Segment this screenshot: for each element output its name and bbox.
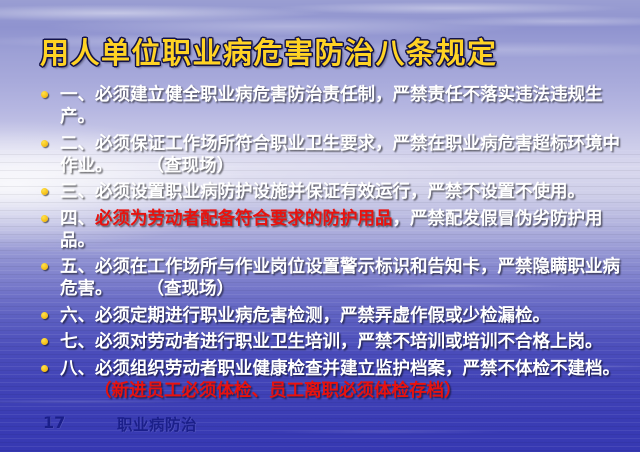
list-item-text: 三、必须设置职业病防护设施并保证有效运行，严禁不设置不使用。 <box>60 181 634 203</box>
plain-text: 二、必须保证工作场所符合职业卫生要求，严禁在职业病危害超标环境中作业。 <box>60 134 620 176</box>
plain-text: 三、必须设置职业病防护设施并保证有效运行，严禁不设置不使用。 <box>60 182 585 202</box>
plain-text: （查现场） <box>147 279 235 299</box>
list-item: 五、必须在工作场所与作业岗位设置警示标识和告知卡，严禁隐瞒职业病危害。（查现场） <box>36 256 634 300</box>
bullet-dot-icon <box>41 312 48 319</box>
list-item-text: 五、必须在工作场所与作业岗位设置警示标识和告知卡，严禁隐瞒职业病危害。（查现场） <box>60 256 634 300</box>
plain-text: 五、必须在工作场所与作业岗位设置警示标识和告知卡，严禁隐瞒职业病危害。 <box>60 257 620 299</box>
slide-title: 用人单位职业病危害防治八条规定 <box>40 30 498 72</box>
list-item-text: 四、必须为劳动者配备符合要求的防护用品，严禁配发假冒伪劣防护用品。 <box>60 208 634 252</box>
list-item: 八、必须组织劳动者职业健康检查并建立监护档案，严禁不体检不建档。（新进员工必须体… <box>36 358 634 402</box>
list-item-text: 一、必须建立健全职业病危害防治责任制，严禁责任不落实违法违规生产。 <box>60 84 634 128</box>
plain-text: 六、必须定期进行职业病危害检测，严禁弄虚作假或少检漏检。 <box>60 306 550 326</box>
bullet-dot-icon <box>41 338 48 345</box>
list-item-text: 二、必须保证工作场所符合职业卫生要求，严禁在职业病危害超标环境中作业。（查现场） <box>60 133 634 177</box>
bullet-dot-icon <box>41 365 48 372</box>
plain-text: 七、必须对劳动者进行职业卫生培训，严禁不培训或培训不合格上岗。 <box>60 332 603 352</box>
list-item-text: 七、必须对劳动者进行职业卫生培训，严禁不培训或培训不合格上岗。 <box>60 331 634 353</box>
bullet-dot-icon <box>41 140 48 147</box>
plain-text: 四、 <box>60 209 95 229</box>
footer-page-number: 17 <box>43 413 65 432</box>
bullet-dot-icon <box>41 215 48 222</box>
highlighted-text: （新进员工必须体检、员工离职必须体检存档） <box>94 381 462 401</box>
list-item-text: 六、必须定期进行职业病危害检测，严禁弄虚作假或少检漏检。 <box>60 305 634 327</box>
bullet-dot-icon <box>41 188 48 195</box>
list-item: 四、必须为劳动者配备符合要求的防护用品，严禁配发假冒伪劣防护用品。 <box>36 208 634 252</box>
plain-text: 一、必须建立健全职业病危害防治责任制，严禁责任不落实违法违规生产。 <box>60 85 603 127</box>
plain-text: （查现场） <box>147 156 235 176</box>
list-item: 二、必须保证工作场所符合职业卫生要求，严禁在职业病危害超标环境中作业。（查现场） <box>36 133 634 177</box>
highlighted-text: 必须为劳动者配备符合要求的防护用品 <box>95 209 393 229</box>
presentation-slide: 用人单位职业病危害防治八条规定 一、必须建立健全职业病危害防治责任制，严禁责任不… <box>0 0 640 452</box>
list-item: 六、必须定期进行职业病危害检测，严禁弄虚作假或少检漏检。 <box>36 305 634 327</box>
list-item: 七、必须对劳动者进行职业卫生培训，严禁不培训或培训不合格上岗。 <box>36 331 634 353</box>
bullet-list: 一、必须建立健全职业病危害防治责任制，严禁责任不落实违法违规生产。二、必须保证工… <box>36 84 634 406</box>
bullet-dot-icon <box>41 91 48 98</box>
bullet-dot-icon <box>41 263 48 270</box>
list-item: 一、必须建立健全职业病危害防治责任制，严禁责任不落实违法违规生产。 <box>36 84 634 128</box>
list-item-text: 八、必须组织劳动者职业健康检查并建立监护档案，严禁不体检不建档。（新进员工必须体… <box>60 358 634 402</box>
list-item: 三、必须设置职业病防护设施并保证有效运行，严禁不设置不使用。 <box>36 181 634 203</box>
footer-label: 职业病防治 <box>117 413 197 435</box>
plain-text: 八、必须组织劳动者职业健康检查并建立监护档案，严禁不体检不建档。 <box>60 359 620 379</box>
